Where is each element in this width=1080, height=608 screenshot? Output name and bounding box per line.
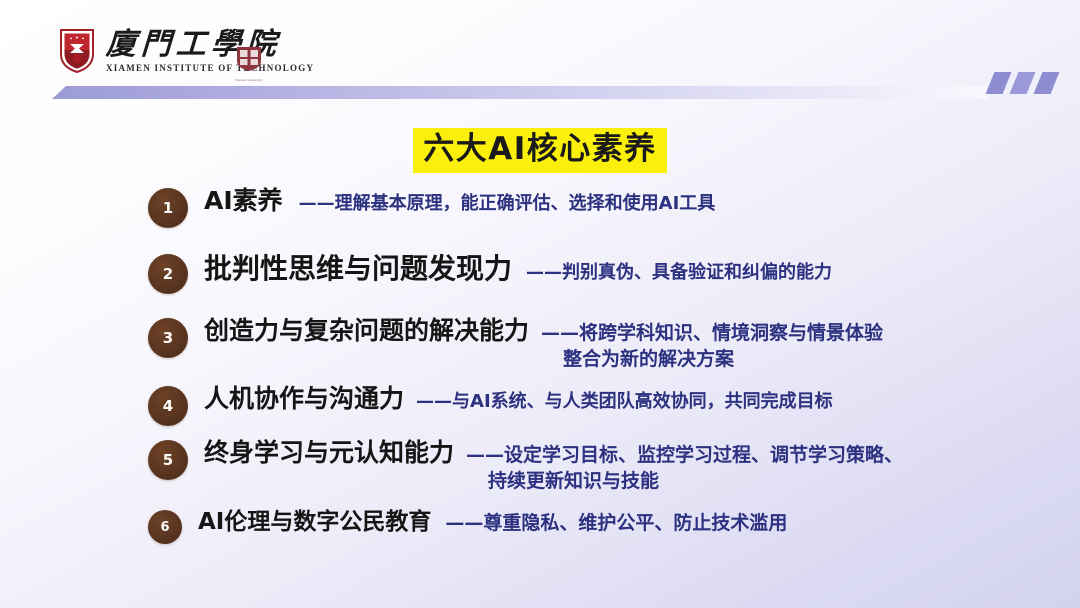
item-description-line: 持续更新知识与技能: [466, 469, 903, 495]
list-item: 4 人机协作与沟通力 ——与AI系统、与人类团队高效协同，共同完成目标: [148, 384, 833, 426]
xiamen-shield-crest-icon: [58, 26, 96, 74]
item-body: 批判性思维与问题发现力 ——判别真伪、具备验证和纠偏的能力: [204, 252, 832, 286]
item-description: ——判别真伪、具备验证和纠偏的能力: [526, 261, 832, 285]
item-heading: AI伦理与数字公民教育: [198, 508, 431, 536]
logo-wordmark: 廈門工學院 XIAMEN INSTITUTE OF TECHNOLOGY: [106, 29, 314, 74]
item-description-line: ——与AI系统、与人类团队高效协同，共同完成目标: [416, 390, 833, 414]
item-description: ——设定学习目标、监控学习过程、调节学习策略、 持续更新知识与技能: [466, 443, 903, 495]
item-heading: 人机协作与沟通力: [204, 384, 404, 415]
item-number-badge: 4: [148, 386, 188, 426]
institution-logo: 廈門工學院 XIAMEN INSTITUTE OF TECHNOLOGY: [58, 26, 314, 74]
item-body: 终身学习与元认知能力 ——设定学习目标、监控学习过程、调节学习策略、 持续更新知…: [204, 438, 903, 495]
accent-bar-2: [1010, 72, 1036, 94]
list-item: 1 AI素养 ——理解基本原理，能正确评估、选择和使用AI工具: [148, 186, 715, 228]
title-container: 六大AI核心素养: [0, 128, 1080, 173]
list-item: 6 AI伦理与数字公民教育 ——尊重隐私、维护公平、防止技术滥用: [148, 508, 787, 544]
presentation-slide: 廈門工學院 XIAMEN INSTITUTE OF TECHNOLOGY Xia…: [0, 0, 1080, 608]
item-description: ——理解基本原理，能正确评估、选择和使用AI工具: [299, 192, 716, 216]
item-number-badge: 3: [148, 318, 188, 358]
slide-header: 廈門工學院 XIAMEN INSTITUTE OF TECHNOLOGY Xia…: [0, 0, 1080, 104]
item-number-badge: 1: [148, 188, 188, 228]
item-description: ——将跨学科知识、情境洞察与情景体验 整合为新的解决方案: [541, 321, 883, 373]
item-description-line: ——判别真伪、具备验证和纠偏的能力: [526, 261, 832, 285]
item-description-line: ——尊重隐私、维护公平、防止技术滥用: [445, 511, 787, 537]
item-number-badge: 6: [148, 510, 182, 544]
partner-label: Xiamen University: [234, 78, 265, 82]
item-description-line: 整合为新的解决方案: [541, 347, 883, 373]
institution-name-en: XIAMEN INSTITUTE OF TECHNOLOGY: [106, 63, 314, 73]
item-heading: 终身学习与元认知能力: [204, 438, 454, 469]
item-description-line: ——将跨学科知识、情境洞察与情景体验: [541, 321, 883, 347]
item-number-badge: 5: [148, 440, 188, 480]
corner-accent-bars: [990, 72, 1055, 94]
accent-bar-1: [986, 72, 1012, 94]
item-body: AI素养 ——理解基本原理，能正确评估、选择和使用AI工具: [204, 186, 715, 217]
list-item: 3 创造力与复杂问题的解决能力 ——将跨学科知识、情境洞察与情景体验 整合为新的…: [148, 316, 883, 373]
item-description-line: ——设定学习目标、监控学习过程、调节学习策略、: [466, 443, 903, 469]
header-divider-bar: [52, 86, 992, 99]
item-description-line: ——理解基本原理，能正确评估、选择和使用AI工具: [299, 192, 716, 216]
partner-shield-crest-icon: Xiamen University: [232, 46, 266, 82]
list-item: 5 终身学习与元认知能力 ——设定学习目标、监控学习过程、调节学习策略、 持续更…: [148, 438, 903, 495]
item-heading: 批判性思维与问题发现力: [204, 252, 512, 286]
item-heading: 创造力与复杂问题的解决能力: [204, 316, 529, 347]
item-body: AI伦理与数字公民教育 ——尊重隐私、维护公平、防止技术滥用: [198, 508, 787, 537]
item-description: ——与AI系统、与人类团队高效协同，共同完成目标: [416, 390, 833, 414]
page-title: 六大AI核心素养: [413, 128, 667, 173]
list-item: 2 批判性思维与问题发现力 ——判别真伪、具备验证和纠偏的能力: [148, 252, 832, 294]
item-description: ——尊重隐私、维护公平、防止技术滥用: [445, 511, 787, 537]
item-heading: AI素养: [204, 186, 283, 217]
item-body: 创造力与复杂问题的解决能力 ——将跨学科知识、情境洞察与情景体验 整合为新的解决…: [204, 316, 883, 373]
item-body: 人机协作与沟通力 ——与AI系统、与人类团队高效协同，共同完成目标: [204, 384, 833, 415]
accent-bar-3: [1034, 72, 1060, 94]
item-number-badge: 2: [148, 254, 188, 294]
